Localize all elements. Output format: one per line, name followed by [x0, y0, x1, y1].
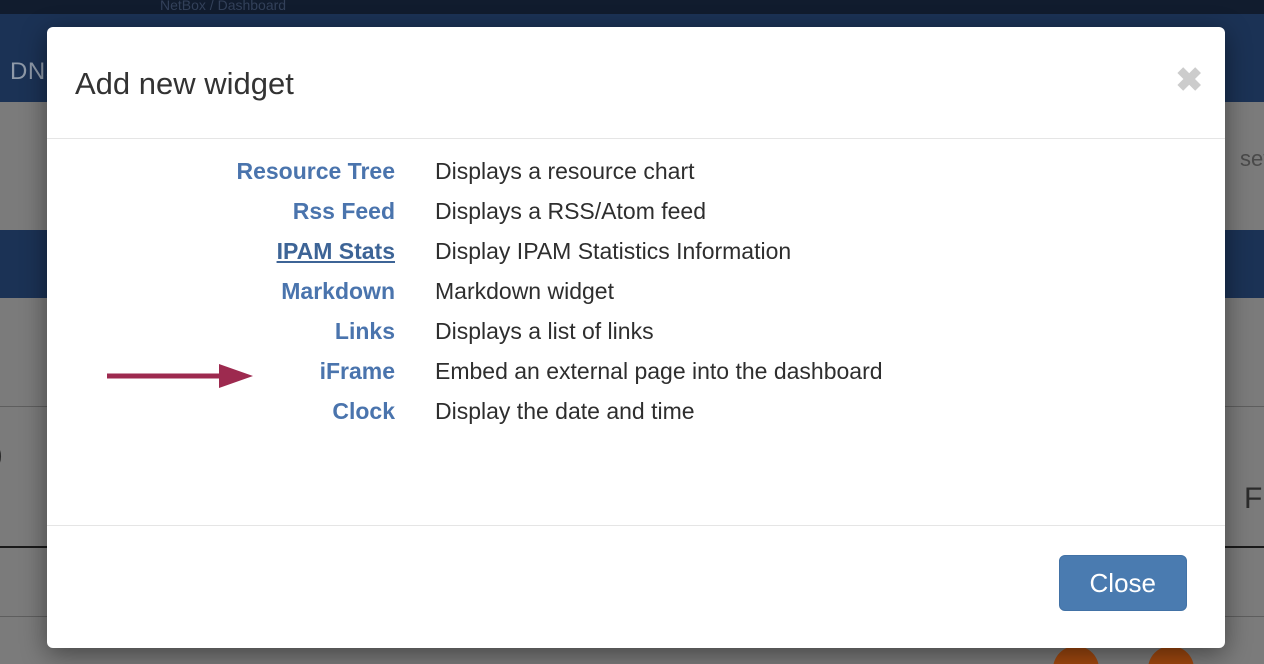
widget-row: Resource TreeDisplays a resource chart [47, 158, 1225, 198]
background-top-strip: NetBox / Dashboard [0, 0, 1264, 14]
widget-description-cell: Displays a list of links [395, 318, 1225, 345]
widget-description: Display IPAM Statistics Information [435, 238, 791, 264]
widget-description-cell: Display IPAM Statistics Information [395, 238, 1225, 265]
background-top-strip-text: NetBox / Dashboard [160, 0, 286, 13]
widget-row: Rss FeedDisplays a RSS/Atom feed [47, 198, 1225, 238]
add-widget-modal: Add new widget ✖ Resource TreeDisplays a… [47, 27, 1225, 648]
widget-link-cell: IPAM Stats [47, 238, 395, 265]
widget-description-cell: Markdown widget [395, 278, 1225, 305]
widget-link-markdown[interactable]: Markdown [281, 278, 395, 304]
widget-link-rss-feed[interactable]: Rss Feed [293, 198, 395, 224]
modal-body: Resource TreeDisplays a resource chartRs… [47, 139, 1225, 525]
widget-description-cell: Display the date and time [395, 398, 1225, 425]
background-text-f: F [1244, 482, 1262, 516]
background-text-reset: set [1240, 146, 1264, 172]
widget-description-cell: Displays a RSS/Atom feed [395, 198, 1225, 225]
close-icon[interactable]: ✖ [1175, 63, 1203, 96]
widget-description: Displays a list of links [435, 318, 654, 344]
widget-description: Displays a resource chart [435, 158, 695, 184]
widget-link-iframe[interactable]: iFrame [320, 358, 395, 384]
modal-header: Add new widget ✖ [47, 27, 1225, 139]
widget-row: IPAM StatsDisplay IPAM Statistics Inform… [47, 238, 1225, 278]
modal-footer: Close [47, 525, 1225, 647]
widget-link-links[interactable]: Links [335, 318, 395, 344]
modal-title: Add new widget [75, 68, 294, 99]
widget-link-cell: iFrame [47, 358, 395, 385]
close-button[interactable]: Close [1059, 555, 1187, 611]
widget-description: Displays a RSS/Atom feed [435, 198, 706, 224]
widget-link-clock[interactable]: Clock [332, 398, 395, 424]
widget-link-cell: Clock [47, 398, 395, 425]
widget-link-resource-tree[interactable]: Resource Tree [236, 158, 395, 184]
widget-description: Markdown widget [435, 278, 614, 304]
widget-description: Display the date and time [435, 398, 695, 424]
widget-link-cell: Rss Feed [47, 198, 395, 225]
widget-row: LinksDisplays a list of links [47, 318, 1225, 358]
widget-description: Embed an external page into the dashboar… [435, 358, 883, 384]
widget-description-cell: Displays a resource chart [395, 158, 1225, 185]
widget-list: Resource TreeDisplays a resource chartRs… [47, 158, 1225, 438]
widget-link-ipam-stats[interactable]: IPAM Stats [277, 238, 395, 264]
widget-link-cell: Resource Tree [47, 158, 395, 185]
widget-link-cell: Markdown [47, 278, 395, 305]
widget-row: iFrameEmbed an external page into the da… [47, 358, 1225, 398]
widget-description-cell: Embed an external page into the dashboar… [395, 358, 1225, 385]
background-row-marker: ) [0, 439, 3, 470]
widget-link-cell: Links [47, 318, 395, 345]
widget-row: ClockDisplay the date and time [47, 398, 1225, 438]
widget-row: MarkdownMarkdown widget [47, 278, 1225, 318]
screen: NetBox / Dashboard DNS set F ) Add new w… [0, 0, 1264, 664]
